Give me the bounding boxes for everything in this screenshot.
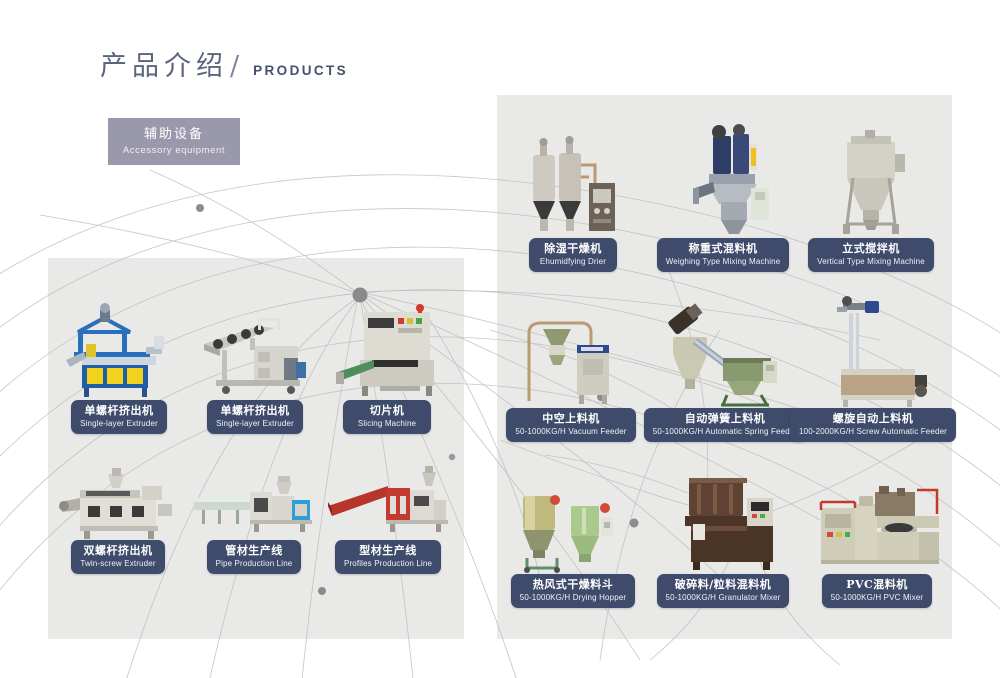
product-label-cn: 立式搅拌机 <box>817 242 925 255</box>
product-catalog-page: 产品介绍 / PRODUCTS 辅助设备 Accessory equipment <box>0 0 1000 678</box>
product-label-en: Profiles Production Line <box>344 558 432 569</box>
product-label-cn: 自动弹簧上料机 <box>653 412 797 425</box>
product-label-cn: 热风式干燥料斗 <box>520 578 626 591</box>
product-label-en: 50-1000KG/H PVC Mixer <box>831 592 924 603</box>
product-label-cn: 管材生产线 <box>216 544 293 557</box>
product-badge[interactable]: 单螺杆挤出机 Single-layer Extruder <box>71 400 167 434</box>
decor-node <box>196 204 204 212</box>
product-badge[interactable]: 自动弹簧上料机 50-1000KG/H Automatic Spring Fee… <box>644 408 806 442</box>
product-card-pvc-mixer[interactable]: PVC混料机 50-1000KG/H PVC Mixer <box>809 478 945 608</box>
product-label-en: 50-1000KG/H Vacuum Feeder <box>515 426 626 437</box>
product-image-slicing-machine <box>332 298 442 400</box>
product-image-automatic-spring-feeder <box>657 303 793 408</box>
category-tag-accessory-equipment[interactable]: 辅助设备 Accessory equipment <box>108 118 240 165</box>
product-label-en: Weighing Type Mixing Machine <box>666 256 781 267</box>
product-card-vacuum-feeder[interactable]: 中空上料机 50-1000KG/H Vacuum Feeder <box>509 303 633 442</box>
product-label-en: 50-1000KG/H Drying Hopper <box>520 592 626 603</box>
product-card-granulator-mixer[interactable]: 破碎料/粒料混料机 50-1000KG/H Granulator Mixer <box>657 470 789 608</box>
product-image-pvc-mixer <box>809 478 945 574</box>
product-image-pipe-production-line <box>192 462 316 540</box>
product-label-en: Vertical Type Mixing Machine <box>817 256 925 267</box>
category-tag-label-cn: 辅助设备 <box>144 127 204 143</box>
product-image-vertical-type-mixing-machine <box>813 128 929 238</box>
product-card-slicing-machine[interactable]: 切片机 Slicing Machine <box>332 298 442 434</box>
product-badge[interactable]: PVC混料机 50-1000KG/H PVC Mixer <box>822 574 933 608</box>
product-label-en: Slicing Machine <box>352 418 422 429</box>
product-label-en: Twin-screw Extruder <box>80 558 155 569</box>
product-label-cn: 除湿干燥机 <box>538 242 608 255</box>
product-card-weighing-type-mixing-machine[interactable]: 称重式混料机 Weighing Type Mixing Machine <box>665 122 781 272</box>
product-label-en: Single-layer Extruder <box>80 418 158 429</box>
product-label-en: 50-1000KG/H Granulator Mixer <box>666 592 781 603</box>
product-card-vertical-type-mixing-machine[interactable]: 立式搅拌机 Vertical Type Mixing Machine <box>813 128 929 272</box>
category-tag-label-en: Accessory equipment <box>123 145 225 156</box>
product-card-screw-automatic-feeder[interactable]: 螺旋自动上料机 100-2000KG/H Screw Automatic Fee… <box>803 295 943 442</box>
product-image-drying-hopper <box>509 478 637 574</box>
product-label-cn: 双螺杆挤出机 <box>80 544 155 557</box>
product-label-cn: 破碎料/粒料混料机 <box>666 578 781 591</box>
product-badge[interactable]: 破碎料/粒料混料机 50-1000KG/H Granulator Mixer <box>657 574 790 608</box>
product-badge[interactable]: 除湿干燥机 Ehumidfying Drier <box>529 238 617 272</box>
product-image-twin-screw-extruder <box>58 460 178 540</box>
page-title-en: PRODUCTS <box>253 63 348 78</box>
product-card-automatic-spring-feeder[interactable]: 自动弹簧上料机 50-1000KG/H Automatic Spring Fee… <box>657 303 793 442</box>
product-badge[interactable]: 称重式混料机 Weighing Type Mixing Machine <box>657 238 790 272</box>
product-image-single-layer-extruder <box>196 300 314 400</box>
product-label-en: 100-2000KG/H Screw Automatic Feeder <box>799 426 947 437</box>
page-title-cn: 产品介绍 <box>100 44 228 83</box>
product-card-ehumidfying-drier[interactable]: 除湿干燥机 Ehumidfying Drier <box>519 133 627 272</box>
product-label-cn: 螺旋自动上料机 <box>799 412 947 425</box>
product-card-single-layer-extruder-2[interactable]: 单螺杆挤出机 Single-layer Extruder <box>196 300 314 434</box>
product-card-profiles-production-line[interactable]: 型材生产线 Profiles Production Line <box>326 462 450 574</box>
product-card-pipe-production-line[interactable]: 管材生产线 Pipe Production Line <box>192 462 316 574</box>
product-card-single-layer-extruder-1[interactable]: 单螺杆挤出机 Single-layer Extruder <box>60 300 178 434</box>
product-card-twin-screw-extruder[interactable]: 双螺杆挤出机 Twin-screw Extruder <box>58 460 178 574</box>
product-image-single-layer-extruder <box>60 300 178 400</box>
page-title-slash: / <box>230 51 239 82</box>
product-label-en: 50-1000KG/H Automatic Spring Feeder <box>653 426 797 437</box>
product-badge[interactable]: 管材生产线 Pipe Production Line <box>207 540 302 574</box>
product-label-cn: 称重式混料机 <box>666 242 781 255</box>
product-image-ehumidfying-drier <box>519 133 627 238</box>
product-badge[interactable]: 单螺杆挤出机 Single-layer Extruder <box>207 400 303 434</box>
product-image-granulator-mixer <box>657 470 789 574</box>
product-badge[interactable]: 热风式干燥料斗 50-1000KG/H Drying Hopper <box>511 574 635 608</box>
product-label-en: Single-layer Extruder <box>216 418 294 429</box>
product-label-cn: 中空上料机 <box>515 412 626 425</box>
product-label-cn: PVC混料机 <box>831 578 924 591</box>
product-label-cn: 单螺杆挤出机 <box>80 404 158 417</box>
page-title: 产品介绍 / PRODUCTS <box>100 44 348 83</box>
product-badge[interactable]: 切片机 Slicing Machine <box>343 400 431 434</box>
product-badge[interactable]: 立式搅拌机 Vertical Type Mixing Machine <box>808 238 934 272</box>
product-image-vacuum-feeder <box>509 303 633 408</box>
product-image-weighing-type-mixing-machine <box>665 122 781 238</box>
product-image-screw-automatic-feeder <box>803 295 943 408</box>
product-card-drying-hopper[interactable]: 热风式干燥料斗 50-1000KG/H Drying Hopper <box>509 478 637 608</box>
product-badge[interactable]: 型材生产线 Profiles Production Line <box>335 540 441 574</box>
product-label-cn: 切片机 <box>352 404 422 417</box>
product-label-en: Ehumidfying Drier <box>538 256 608 267</box>
product-badge[interactable]: 双螺杆挤出机 Twin-screw Extruder <box>71 540 164 574</box>
product-label-cn: 型材生产线 <box>344 544 432 557</box>
product-badge[interactable]: 中空上料机 50-1000KG/H Vacuum Feeder <box>506 408 635 442</box>
product-label-en: Pipe Production Line <box>216 558 293 569</box>
product-image-profiles-production-line <box>326 462 450 540</box>
product-label-cn: 单螺杆挤出机 <box>216 404 294 417</box>
product-badge[interactable]: 螺旋自动上料机 100-2000KG/H Screw Automatic Fee… <box>790 408 956 442</box>
